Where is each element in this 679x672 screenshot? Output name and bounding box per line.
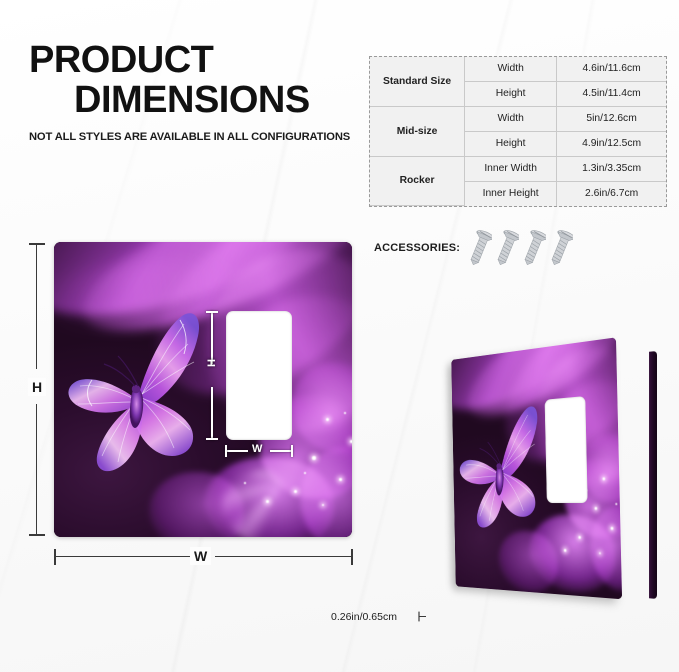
inner-width-cap-left [225,445,227,457]
spec-category-rocker: Rocker [370,156,465,205]
product-angled-view [404,337,656,617]
spec-value: 4.6in/11.6cm [557,57,666,81]
table-row: Rocker Inner Width 1.3in/3.35cm [370,156,666,181]
accessories-label: ACCESSORIES: [374,242,460,254]
thickness-label: 0.26in/0.65cm [331,611,397,623]
specification-table: Standard Size Width 4.6in/11.6cm Height … [369,56,667,207]
spec-value: 1.3in/3.35cm [557,156,666,181]
inner-width-label: W [252,443,262,455]
outer-width-label: W [190,547,211,565]
outer-width-cap-left [54,549,56,565]
outer-height-cap-top [29,243,45,245]
inner-height-cap-top [206,311,218,313]
spec-dimension: Height [465,81,557,106]
thickness-tick-icon [418,611,427,622]
outer-height-label: H [28,378,46,396]
spec-value: 4.9in/12.5cm [557,131,666,156]
butterfly-graphic [62,310,212,475]
spec-value: 5in/12.6cm [557,106,666,131]
outer-height-line-top [36,244,37,369]
rocker-cutout [226,311,292,440]
inner-height-line-top [211,311,213,364]
title-line-2: DIMENSIONS [29,82,364,119]
spec-dimension: Width [465,57,557,81]
angled-plate-face [451,337,622,599]
inner-width-line-right [270,450,292,452]
screw-row [469,228,577,268]
spec-value: 4.5in/11.4cm [557,81,666,106]
table-row: Mid-size Width 5in/12.6cm [370,106,666,131]
inner-width-cap-right [291,445,293,457]
plate-thickness-edge [649,351,657,599]
screw-icon [469,228,492,268]
spec-dimension: Inner Width [465,156,557,181]
spec-dimension: Inner Height [465,181,557,205]
spec-category-midsize: Mid-size [370,106,465,156]
inner-height-label: H [206,359,218,367]
spec-table-body: Standard Size Width 4.6in/11.6cm Height … [370,57,666,206]
spec-category-standard: Standard Size [370,57,465,106]
product-front-view: H W [54,242,352,537]
screw-icon [550,228,573,268]
screw-icon [523,228,546,268]
inner-height-line-bottom [211,387,213,440]
spec-dimension: Width [465,106,557,131]
subtitle: NOT ALL STYLES ARE AVAILABLE IN ALL CONF… [29,131,364,143]
plate-artwork-front [54,242,352,537]
outer-height-line-bottom [36,404,37,535]
screw-icon [496,228,519,268]
outer-width-line-left [55,556,190,557]
spec-value: 2.6in/6.7cm [557,181,666,205]
inner-height-cap-bottom [206,438,218,440]
title-line-1: PRODUCT [29,42,364,79]
page-title: PRODUCT DIMENSIONS NOT ALL STYLES ARE AV… [29,42,364,143]
accessories-section: ACCESSORIES: [374,228,577,268]
outer-width-line-right [215,556,352,557]
butterfly-graphic [455,402,548,534]
spec-table-grid: Standard Size Width 4.6in/11.6cm Height … [370,57,666,206]
rocker-cutout [545,396,588,503]
spec-dimension: Height [465,131,557,156]
table-row: Standard Size Width 4.6in/11.6cm [370,57,666,81]
plate-artwork-angled [451,337,622,599]
outer-height-cap-bottom [29,534,45,536]
outer-width-cap-right [351,549,353,565]
inner-width-line-left [226,450,248,452]
